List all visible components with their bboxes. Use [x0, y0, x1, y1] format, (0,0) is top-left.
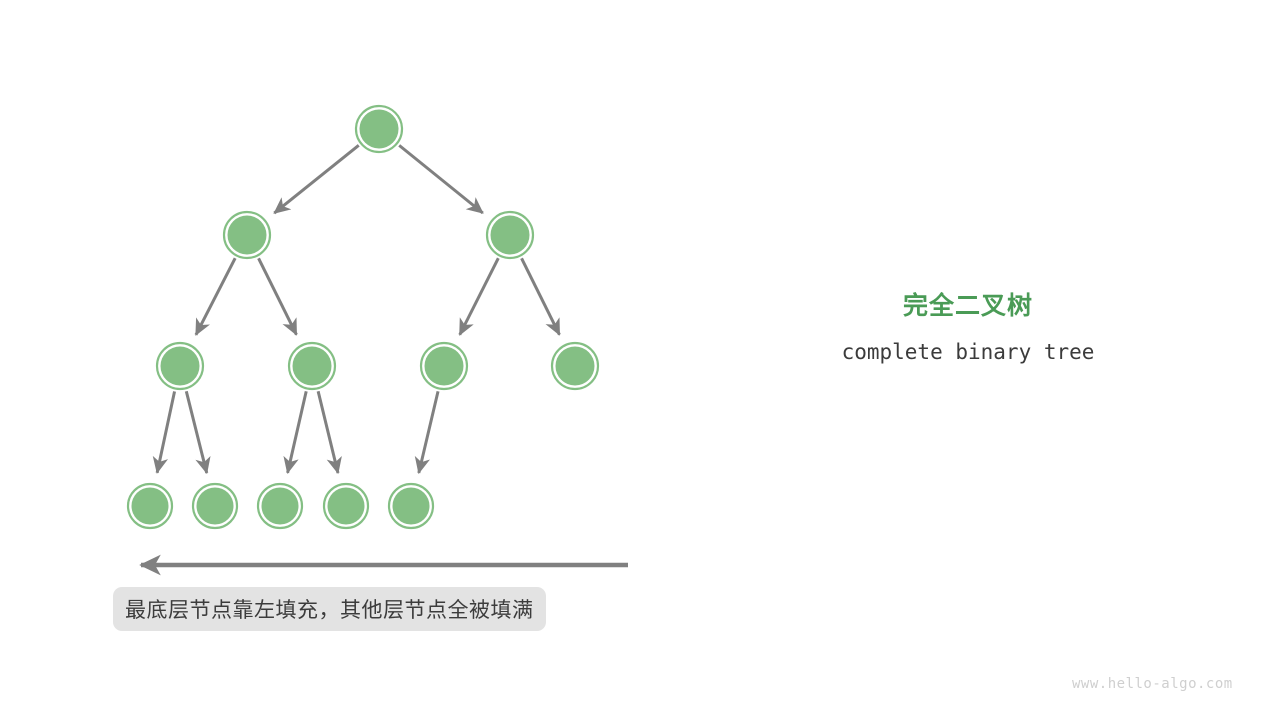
- tree-node: [128, 484, 172, 528]
- tree-node: [421, 343, 467, 389]
- edge-layer: [157, 145, 559, 473]
- tree-edge: [288, 391, 307, 473]
- tree-node-core: [491, 216, 530, 255]
- tree-edge: [460, 258, 499, 335]
- tree-node: [356, 106, 402, 152]
- tree-node-core: [328, 488, 365, 525]
- tree-edge: [274, 145, 358, 213]
- tree-node: [487, 212, 533, 258]
- tree-node-core: [360, 110, 399, 149]
- diagram-stage: 完全二叉树 complete binary tree 最底层节点靠左填充，其他层…: [0, 0, 1280, 720]
- tree-node-core: [293, 347, 332, 386]
- tree-node-core: [425, 347, 464, 386]
- page-title: 完全二叉树: [760, 290, 1176, 322]
- tree-node-core: [161, 347, 200, 386]
- tree-node: [289, 343, 335, 389]
- tree-node-core: [393, 488, 430, 525]
- tree-node: [224, 212, 270, 258]
- tree-node-core: [262, 488, 299, 525]
- tree-node-core: [197, 488, 234, 525]
- page-subtitle: complete binary tree: [760, 338, 1176, 366]
- tree-edge: [419, 391, 438, 473]
- node-layer: [128, 106, 598, 528]
- tree-node-core: [556, 347, 595, 386]
- tree-edge: [157, 391, 174, 472]
- caption-badge: 最底层节点靠左填充，其他层节点全被填满: [113, 587, 546, 631]
- tree-label-block: 完全二叉树 complete binary tree: [760, 290, 1176, 366]
- tree-node: [193, 484, 237, 528]
- tree-edge: [186, 391, 206, 473]
- tree-node: [258, 484, 302, 528]
- tree-node: [389, 484, 433, 528]
- caption-text: 最底层节点靠左填充，其他层节点全被填满: [125, 594, 534, 624]
- tree-node: [552, 343, 598, 389]
- watermark: www.hello-algo.com: [1072, 676, 1233, 692]
- tree-edge: [318, 391, 338, 473]
- tree-node: [324, 484, 368, 528]
- tree-node-core: [132, 488, 169, 525]
- tree-node: [157, 343, 203, 389]
- tree-edge: [399, 145, 483, 213]
- tree-edge: [522, 258, 560, 334]
- tree-edge: [196, 258, 235, 335]
- tree-edge: [259, 258, 297, 334]
- tree-node-core: [228, 216, 267, 255]
